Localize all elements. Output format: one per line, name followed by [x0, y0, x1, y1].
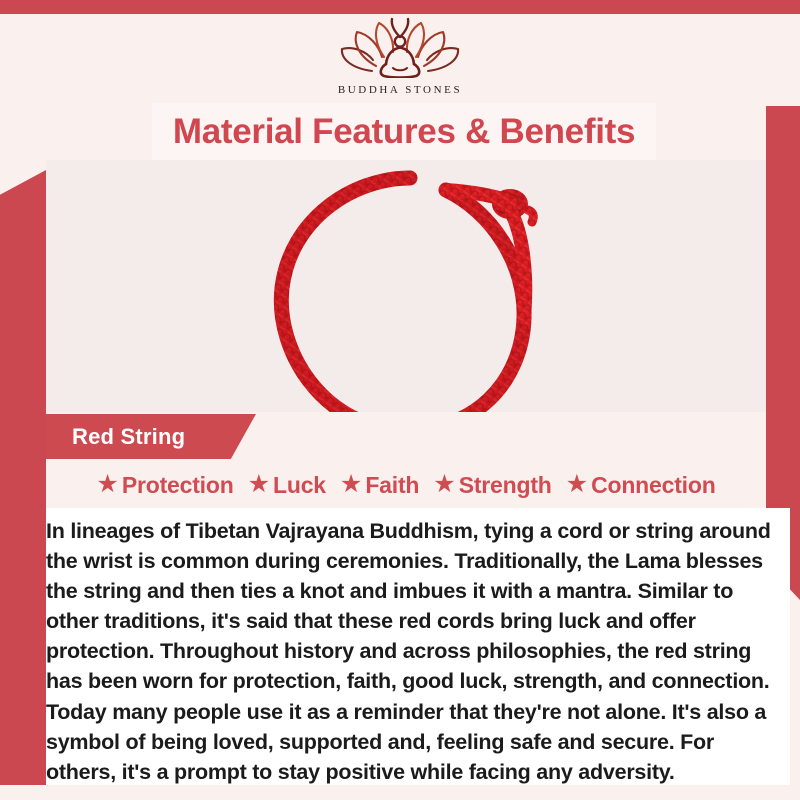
brand-wordmark: BUDDHA STONES: [338, 84, 462, 96]
red-braided-string-bracelet-image: [260, 168, 560, 412]
benefit-item: ★ Luck: [243, 472, 331, 499]
page-title: Material Features & Benefits: [173, 112, 635, 152]
benefit-item: ★ Faith: [335, 472, 424, 499]
description-block: In lineages of Tibetan Vajrayana Buddhis…: [46, 508, 790, 790]
benefit-item: ★ Connection: [561, 472, 721, 499]
star-icon: ★: [340, 472, 362, 497]
star-icon: ★: [433, 472, 455, 497]
decor-top-bar: [0, 0, 800, 14]
product-name-label: Red String: [72, 424, 185, 450]
benefit-label: Faith: [365, 472, 419, 499]
product-image-stage: [46, 160, 766, 412]
benefit-item: ★ Strength: [428, 472, 556, 499]
benefit-label: Protection: [122, 472, 234, 499]
benefit-label: Connection: [591, 472, 716, 499]
infographic-page: BUDDHA STONES Material Features & Benefi…: [0, 0, 800, 800]
star-icon: ★: [248, 472, 270, 497]
lotus-meditation-icon: [336, 16, 464, 83]
star-icon: ★: [566, 472, 588, 497]
benefits-row: ★ Protection ★ Luck ★ Faith ★ Strength ★…: [46, 463, 766, 508]
brand-header: BUDDHA STONES: [0, 14, 800, 106]
benefit-label: Luck: [273, 472, 326, 499]
benefit-item: ★ Protection: [91, 472, 238, 499]
decor-left-strip: [0, 170, 46, 788]
star-icon: ★: [96, 472, 118, 497]
title-banner: Material Features & Benefits: [152, 103, 656, 160]
decor-bottom-fill: [0, 785, 800, 800]
benefit-label: Strength: [459, 472, 552, 499]
product-name-ribbon: Red String: [46, 414, 256, 459]
description-text: In lineages of Tibetan Vajrayana Buddhis…: [46, 516, 772, 787]
